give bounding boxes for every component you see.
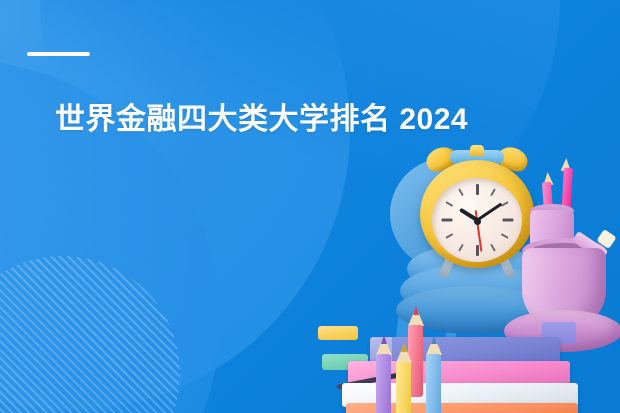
clock-center-pin-icon (474, 218, 481, 225)
book-yellow-icon (318, 326, 358, 340)
clock-body-icon (420, 160, 534, 268)
pencil-purple-icon (376, 354, 391, 413)
clock-tick-icon (458, 188, 464, 196)
clock-tick-icon (441, 219, 452, 222)
clock-tick-icon (490, 244, 496, 252)
pencil-lead-icon (413, 306, 419, 315)
clock-tick-icon (458, 244, 464, 252)
clock-tick-icon (502, 219, 513, 222)
clock-tick-icon (501, 233, 509, 239)
pencil-lead-icon (381, 335, 387, 344)
alarm-clock-icon (420, 154, 534, 268)
pencil-lead-icon (401, 343, 407, 352)
clock-face-icon (432, 178, 522, 262)
pencil-lead-icon (431, 335, 437, 344)
study-supplies-illustration (352, 140, 620, 413)
title-accent-rule (27, 52, 90, 56)
clock-knob-icon (470, 145, 484, 156)
clock-tick-icon (476, 184, 479, 195)
clock-tick-icon (476, 245, 479, 256)
article-cover-banner: 世界金融四大类大学排名 2024 (0, 0, 620, 413)
pencil-blue-icon (426, 354, 441, 413)
page-title: 世界金融四大类大学排名 2024 (55, 101, 468, 139)
clock-tick-icon (445, 233, 453, 239)
pencil-yellow-icon (396, 362, 411, 413)
clock-tick-icon (445, 201, 453, 207)
clock-tick-icon (490, 188, 496, 196)
